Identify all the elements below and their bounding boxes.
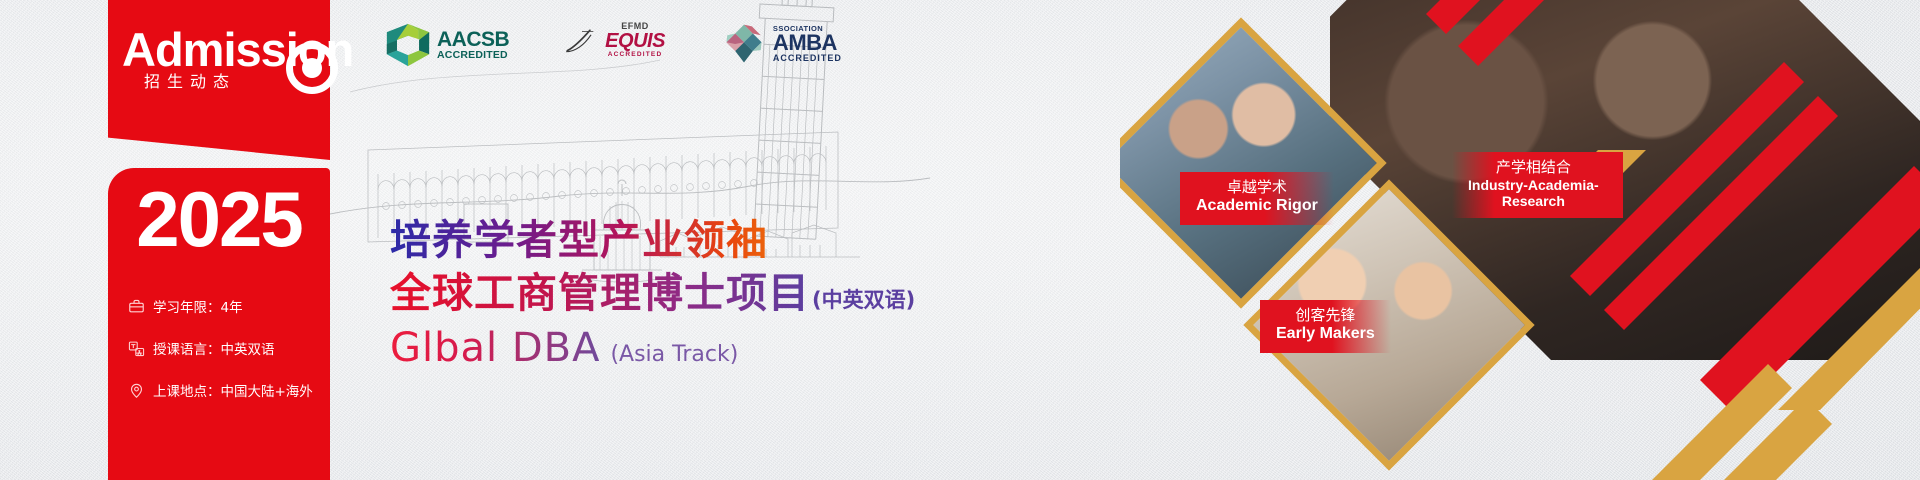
badge2-en-line1: Industry-Academia-	[1468, 177, 1599, 193]
admission-banner: Admission 招生动态 2025 学习年限：4年	[0, 0, 1920, 480]
tagline-text: 培养学者型产业领袖	[390, 218, 915, 263]
program-en-text: Glbal DBA	[390, 328, 600, 368]
photo-collage: 卓越学术 Academic Rigor 产学相结合 Industry-Acade…	[1120, 0, 1920, 480]
translate-icon	[128, 340, 145, 357]
info-row-duration: 学习年限：4年	[128, 296, 328, 316]
amba-sub-label: ACCREDITED	[773, 54, 842, 63]
info-text-location: 上课地点：中国大陆+海外	[153, 380, 313, 400]
aacsb-text: AACSB ACCREDITED	[437, 29, 509, 61]
program-en-row: Glbal DBA (Asia Track)	[390, 328, 915, 368]
program-info-list: 学习年限：4年 授课语言：中英双语 上课地点：中国大陆+海外	[128, 296, 328, 422]
info-row-language: 授课语言：中英双语	[128, 338, 328, 358]
headline-group: 培养学者型产业领袖 全球工商管理博士项目 (中英双语) Glbal DBA (A…	[390, 218, 915, 368]
amba-diamond-icon	[721, 22, 767, 66]
amba-logo: SSOCIATION AMBA ACCREDITED	[721, 22, 842, 66]
left-red-panel: Admission 招生动态 2025 学习年限：4年	[108, 0, 330, 480]
badge2-en-line2: Research	[1468, 193, 1599, 209]
program-en-suffix: (Asia Track)	[610, 342, 738, 367]
aacsb-logo: AACSB ACCREDITED	[385, 22, 509, 68]
aacsb-line1: AACSB	[437, 29, 509, 50]
equis-main-label: EQUIS	[605, 31, 665, 52]
amba-main-label: AMBA	[773, 32, 842, 54]
amba-prefix: A	[773, 30, 788, 55]
program-cn-row: 全球工商管理博士项目 (中英双语)	[390, 271, 915, 316]
badge2-cn: 产学相结合	[1468, 159, 1599, 177]
admission-cn-text: 招生动态	[144, 68, 236, 92]
program-cn-text: 全球工商管理博士项目	[390, 271, 810, 316]
accreditation-logos: AACSB ACCREDITED EFMD EQUIS ACCREDITED	[385, 22, 842, 68]
location-pin-icon	[128, 382, 145, 399]
badge-industry-academia-research: 产学相结合 Industry-Academia- Research	[1452, 152, 1623, 218]
briefcase-icon	[128, 298, 145, 315]
badge3-en: Early Makers	[1276, 325, 1375, 344]
equis-swoosh-icon	[565, 28, 599, 54]
equis-text: EFMD EQUIS ACCREDITED	[605, 22, 665, 59]
badge1-en: Academic Rigor	[1196, 197, 1318, 216]
badge-early-makers: 创客先锋 Early Makers	[1260, 300, 1391, 353]
year-label: 2025	[108, 180, 330, 258]
info-row-location: 上课地点：中国大陆+海外	[128, 380, 328, 400]
info-text-duration: 学习年限：4年	[153, 296, 243, 316]
equis-sub-label: ACCREDITED	[605, 52, 665, 59]
admission-logo: Admission 招生动态	[108, 18, 330, 128]
info-text-language: 授课语言：中英双语	[153, 338, 275, 358]
badge-academic-rigor: 卓越学术 Academic Rigor	[1180, 172, 1334, 225]
equis-logo: EFMD EQUIS ACCREDITED	[565, 22, 665, 59]
badge1-cn: 卓越学术	[1196, 179, 1318, 197]
amba-core: MBA	[788, 30, 837, 55]
aacsb-mark-icon	[385, 22, 431, 68]
amba-text: SSOCIATION AMBA ACCREDITED	[773, 25, 842, 64]
admission-dot-icon	[302, 58, 322, 78]
aacsb-line2: ACCREDITED	[437, 50, 509, 61]
badge3-cn: 创客先锋	[1276, 307, 1375, 325]
program-cn-suffix: (中英双语)	[812, 284, 915, 314]
